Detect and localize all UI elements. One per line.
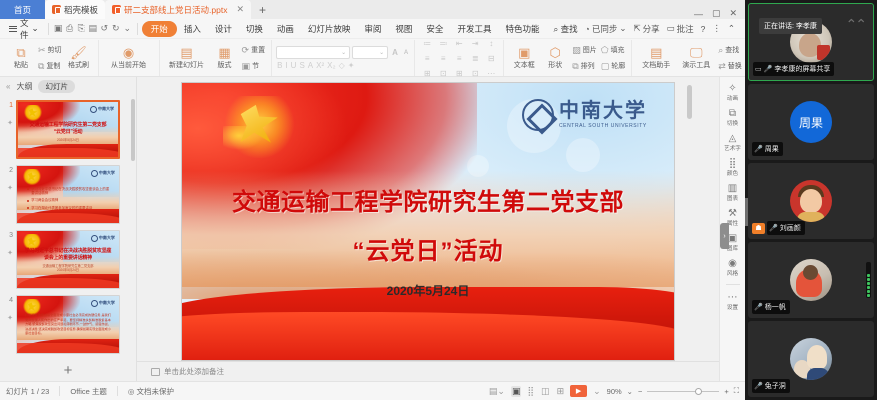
highlight-button[interactable]: ✦: [348, 61, 355, 70]
outline-icon: ▢: [601, 61, 610, 72]
new-slide-button[interactable]: ▤ 新建幻灯片: [164, 41, 210, 76]
fill-icon: ⬠: [601, 45, 609, 56]
participant-tile-5[interactable]: 🎤 兔子洞: [748, 321, 874, 397]
participant-name-bar-5: 🎤 兔子洞: [752, 379, 790, 393]
format-painter-icon: 🖌: [70, 46, 87, 59]
font-color-button[interactable]: A: [308, 61, 313, 70]
tab-home[interactable]: 首页: [0, 0, 45, 19]
tab-document[interactable]: 研二支部线上党日活动.pptx ✕: [105, 0, 251, 19]
doc-assistant-button[interactable]: ▤ 文档助手: [636, 41, 676, 76]
participant-tile-4[interactable]: 🎤 杨一帆: [748, 242, 874, 318]
comment-label: 批注: [677, 23, 694, 35]
subscript-button[interactable]: X₂: [327, 61, 335, 70]
find-label: 查找: [725, 45, 739, 55]
view-normal-button[interactable]: ▣: [511, 386, 522, 397]
comment-icon: ▭: [667, 23, 675, 34]
align-left-button[interactable]: ≡: [425, 54, 430, 63]
menu-item-animation[interactable]: 动画: [270, 21, 301, 37]
mini-bullet-item: 学习两会会议精神: [27, 198, 111, 202]
print-icon[interactable]: ⎘: [75, 21, 87, 36]
window-controls: — ▢ ✕: [686, 8, 745, 19]
theme-label[interactable]: Office 主题: [70, 386, 107, 397]
animation-star-icon: ✦: [7, 119, 13, 127]
participant-name-bar-3: ☗ 🎤 刘画颜: [752, 221, 805, 235]
menu-item-design[interactable]: 设计: [208, 21, 239, 37]
slideshow-options-caret[interactable]: ⌄: [592, 386, 602, 397]
current-slide[interactable]: 中南大学 CENTRAL SOUTH UNIVERSITY 交通运输工程学院研究…: [182, 83, 674, 360]
view-options-button[interactable]: ▤⌄: [488, 386, 506, 397]
menu-item-security[interactable]: 安全: [419, 21, 450, 37]
level-bar: [867, 278, 870, 281]
canvas-area[interactable]: 中南大学 CENTRAL SOUTH UNIVERSITY 交通运输工程学院研究…: [137, 77, 719, 361]
rail-item-color[interactable]: ⣿ 颜色: [720, 156, 746, 179]
level-bar: [867, 274, 870, 277]
fill-button[interactable]: ⬠ 填充: [599, 43, 628, 58]
participant-name-3: 🎤 刘画颜: [767, 221, 805, 235]
mini-subtitle: “云党日”活动: [24, 129, 112, 136]
rail-item-animation[interactable]: ✧ 动画: [720, 81, 746, 104]
logo-cn-text: 中南大学: [559, 101, 647, 121]
rail-label: 风格: [727, 269, 738, 277]
menu-divider-2: [137, 23, 138, 35]
collapse-panel-icon[interactable]: «: [6, 82, 10, 91]
help-button[interactable]: ?: [701, 24, 706, 34]
new-tab-button[interactable]: +: [251, 0, 274, 19]
party-emblem-icon: [221, 96, 295, 158]
align-right-button[interactable]: ≡: [457, 54, 462, 63]
participant-name-4: 🎤 杨一帆: [752, 300, 790, 314]
section-button[interactable]: ▣ 节: [240, 59, 268, 74]
slide-number-1-group: 1 ✦: [3, 100, 13, 127]
avatar-face: [800, 189, 822, 213]
copy-button[interactable]: ⧉ 复制: [36, 59, 64, 74]
microphone-icon: 🎤: [764, 65, 773, 73]
rail-item-chart[interactable]: ▥ 图表: [720, 181, 746, 204]
menu-item-slideshow[interactable]: 幻灯片放映: [301, 21, 358, 37]
play-from-current-button[interactable]: ◉ 从当前开始: [103, 41, 155, 76]
rail-item-settings[interactable]: ⋯ 设置: [720, 290, 746, 313]
close-window-button[interactable]: ✕: [729, 8, 737, 19]
logo-text-group: 中南大学 CENTRAL SOUTH UNIVERSITY: [559, 101, 647, 129]
notes-placeholder: 单击此处添加备注: [164, 366, 224, 377]
logo-text: 中南大学: [99, 300, 115, 306]
layout-button[interactable]: ▦ 版式: [210, 41, 240, 76]
status-divider: [59, 386, 60, 396]
tab-close-icon[interactable]: ✕: [236, 4, 244, 15]
slide-subtitle[interactable]: “云党日”活动: [202, 231, 655, 266]
notes-pane[interactable]: 单击此处添加备注: [137, 361, 719, 381]
present-tools-icon: 🖵: [690, 46, 703, 59]
notes-icon: [151, 368, 160, 376]
slide-title[interactable]: 交通运输工程学院研究生第二党支部: [202, 188, 655, 218]
output-pdf-icon[interactable]: ▤: [87, 21, 99, 36]
logo-en-text: CENTRAL SOUTH UNIVERSITY: [559, 123, 647, 129]
new-slide-label: 新建幻灯片: [169, 60, 204, 70]
mini-date: 2020年5月24日: [23, 267, 113, 272]
shape-icon: ⬡: [550, 46, 561, 59]
avatar: [790, 338, 832, 380]
decrease-indent-button[interactable]: ⇤: [456, 39, 463, 48]
avatar-person-2: [807, 345, 827, 369]
minimize-button[interactable]: —: [694, 9, 703, 19]
sync-status[interactable]: ◔ 已同步 ⌄: [585, 23, 627, 35]
ribbon-toolbar: ⧉ 粘贴 ✂ 剪切 ⧉ 复制 🖌 格式刷: [0, 39, 745, 77]
zoom-slider-handle[interactable]: [695, 388, 702, 395]
find-button[interactable]: ⌕ 查找: [716, 43, 744, 58]
numbering-button[interactable]: ≕: [439, 39, 447, 48]
rail-item-transition[interactable]: ⧉ 切换: [720, 106, 746, 129]
status-bar: 幻灯片 1 / 23 Office 主题 ◎ 文档未保护 ▤⌄ ▣ ⣿ ◫ ⊞ …: [0, 381, 745, 400]
rail-label: 艺术字: [724, 144, 741, 152]
microphone-muted-icon: 🎤: [754, 145, 763, 153]
paste-label: 粘贴: [14, 60, 28, 70]
insert-small-buttons-2: ⬠ 填充 ▢ 轮廓: [599, 41, 628, 76]
play-circle-icon: ◉: [123, 46, 134, 59]
mini-date: 2020年5月24日: [24, 137, 112, 142]
tab-document-label: 研二支部线上党日活动.pptx: [124, 4, 227, 16]
menu-item-review[interactable]: 审阅: [357, 21, 388, 37]
slide-number-4-group: 4 ✦: [3, 295, 13, 322]
university-logo: 中南大学: [91, 170, 115, 177]
mini-paragraph: 打赢脱贫攻坚战是全面建成小康社会必须完成的硬任务,是我们党向全国人民作出的庄严承…: [25, 313, 111, 335]
avatar: 周果: [790, 101, 832, 143]
ribbon-group-font: ⌄ ⌄ A A B I U S A X² X₂ ◇ ✦: [272, 40, 415, 76]
font-row-top: ⌄ ⌄ A A: [276, 46, 410, 59]
slide-panel-header: « 大纲 幻灯片: [0, 77, 136, 95]
application-window: 首页 稻壳模板 研二支部线上党日活动.pptx ✕ + — ▢ ✕ 文件: [0, 0, 877, 400]
present-tools-button[interactable]: 🖵 演示工具: [676, 41, 716, 76]
logo-ring-icon: [91, 170, 98, 177]
font-row-bottom: B I U S A X² X₂ ◇ ✦: [276, 61, 410, 70]
party-emblem-icon: [23, 169, 41, 185]
status-bar-right: ▤⌄ ▣ ⣿ ◫ ⊞ ▶ ⌄ 90% ⌄ − + ⛶: [488, 385, 739, 397]
participant-tile-2[interactable]: 周果 🎤 周果: [748, 84, 874, 160]
italic-button[interactable]: I: [285, 61, 287, 70]
present-tools-label: 演示工具: [682, 60, 710, 70]
decor-bubble: [566, 138, 600, 172]
chevron-up-icon[interactable]: ⌃⌃: [846, 16, 865, 33]
microphone-muted-icon: 🎤: [754, 382, 763, 390]
logo-ring-icon: [91, 300, 98, 307]
participant-label: 杨一帆: [765, 302, 786, 312]
copy-icon: ⧉: [38, 61, 44, 72]
outline-label: 轮廓: [611, 61, 625, 71]
share-button[interactable]: ⇱ 分享: [633, 23, 659, 35]
replace-button[interactable]: ⇄ 替换: [716, 59, 744, 74]
reset-label: 重置: [251, 45, 265, 55]
font-size-input[interactable]: ⌄: [352, 46, 388, 59]
menu-item-developer-tools[interactable]: 开发工具: [450, 21, 498, 37]
mini-bullet-item: 学习在湖北代表团参加审议时的重要讲话: [27, 206, 111, 210]
replace-icon: ⇄: [718, 61, 726, 72]
animation-star-icon: ✦: [7, 249, 13, 257]
copy-label: 复制: [46, 61, 60, 71]
mini-slide-3: 中南大学 学习习近平总书记在决战决胜脱贫攻坚座谈会上的重要讲话精神 交通运输工程…: [17, 231, 119, 288]
rail-item-wordart[interactable]: ◬ 艺术字: [720, 131, 746, 154]
menu-item-insert[interactable]: 插入: [177, 21, 208, 37]
reset-button[interactable]: ⟳ 重置: [240, 43, 268, 58]
textbox-icon: ▣: [518, 46, 530, 59]
logo-text: 中南大学: [98, 106, 114, 112]
zoom-caret-icon[interactable]: ⌄: [627, 387, 633, 396]
logo-ring-icon: [90, 106, 97, 113]
start-slideshow-button[interactable]: ▶: [570, 385, 587, 397]
chevron-down-icon: ⌄: [619, 23, 626, 34]
shape-label: 形状: [548, 60, 562, 70]
justify-button[interactable]: ≣: [472, 54, 479, 63]
doc-assistant-icon: ▤: [650, 46, 662, 59]
view-reading-button[interactable]: ⊞: [556, 386, 566, 397]
workspace: « 大纲 幻灯片 1 ✦: [0, 77, 745, 381]
slide-date[interactable]: 2020年5月24日: [202, 282, 655, 299]
level-bar: [867, 286, 870, 289]
slide-number: 1: [9, 102, 13, 109]
redo-icon[interactable]: ↻: [110, 21, 122, 36]
mini-red-wave-2: [16, 213, 120, 223]
zoom-level-label[interactable]: 90%: [607, 387, 622, 396]
participant-tile-1[interactable]: 正在讲话: 李孝康 ⌃⌃ ▭ 🎤 李孝康的屏幕共享: [748, 3, 874, 81]
mini-red-wave-2: [16, 343, 120, 353]
decrease-font-size-button[interactable]: A: [402, 50, 410, 56]
section-icon: ▣: [242, 61, 251, 72]
slide-editor: 中南大学 CENTRAL SOUTH UNIVERSITY 交通运输工程学院研究…: [137, 77, 719, 381]
file-menu-label: 文件: [20, 17, 29, 41]
line-spacing-button[interactable]: ↕: [489, 39, 493, 48]
slide-thumb-canvas-2: 中南大学 学习习近平总书记在决战决胜脱贫攻坚座谈会上的重要讲话精神 学习两会会议…: [16, 165, 120, 224]
layout-icon: ▦: [218, 46, 230, 59]
rail-label: 切换: [727, 119, 738, 127]
chevron-down-icon: ⌄: [32, 23, 39, 34]
cut-label: 剪切: [48, 45, 62, 55]
rail-expand-handle[interactable]: ›: [720, 223, 729, 249]
menu-item-special-features[interactable]: 特色功能: [498, 21, 546, 37]
menu-bar: 文件 ⌄ ▣ ⎙ ⎘ ▤ ↺ ↻ ⌄ 开始 插入 设计 切换 动画 幻灯片放映 …: [0, 19, 745, 39]
picture-icon: ▨: [572, 45, 581, 56]
textbox-label: 文本框: [514, 60, 535, 70]
zoom-out-button[interactable]: −: [638, 387, 642, 396]
print-preview-icon[interactable]: ⎙: [64, 21, 76, 36]
tab-home-label: 首页: [14, 4, 31, 16]
university-logo: 中南大学: [91, 300, 115, 307]
level-bar: [867, 290, 870, 293]
comment-button[interactable]: ▭ 批注: [667, 23, 694, 35]
avatar: [790, 180, 832, 222]
participant-name-bar-4: 🎤 杨一帆: [752, 300, 790, 314]
rail-label: 设置: [727, 303, 738, 311]
slide-thumbnail-4[interactable]: 4 ✦ 中南大学: [0, 292, 136, 357]
menu-search-label: 查找: [561, 24, 578, 34]
doc-assistant-label: 文档助手: [642, 60, 670, 70]
section-label: 节: [252, 61, 259, 71]
menu-item-start[interactable]: 开始: [142, 21, 177, 37]
level-bar: [867, 294, 870, 297]
university-logo: 中南大学 CENTRAL SOUTH UNIVERSITY: [522, 99, 647, 131]
mini-title: 学习习近平总书记在决战决胜脱贫攻坚座谈会上的重要讲话精神: [23, 248, 113, 262]
ribbon-group-paragraph: ≔ ≕ ⇤ ⇥ ↕ ≡ ≡ ≡ ≣ ⊟ ⊞ ⊡ ⊞ ⊡ ⋯: [415, 40, 504, 76]
level-bar: [867, 282, 870, 285]
animation-icon: ✧: [728, 83, 736, 94]
slide-number: 4: [9, 297, 13, 304]
strikethrough-button[interactable]: S: [299, 61, 304, 70]
paste-button[interactable]: ⧉ 粘贴: [6, 41, 36, 76]
participant-name-2: 🎤 周果: [752, 142, 783, 156]
superscript-button[interactable]: X²: [316, 61, 324, 70]
rail-label: 颜色: [727, 169, 738, 177]
slide-thumbnail-2[interactable]: 2 ✦ 中南大学: [0, 162, 136, 227]
share-icon: ⇱: [633, 23, 640, 34]
canvas-scrollbar[interactable]: [687, 85, 692, 119]
slide-list[interactable]: 1 ✦ 中南大学: [0, 95, 136, 381]
avatar-clothing: [807, 368, 829, 380]
ribbon-group-play: ◉ 从当前开始: [99, 40, 160, 76]
screen-share-icon: ▭: [755, 65, 762, 73]
sync-label: 已同步: [592, 23, 618, 35]
participant-tile-3[interactable]: ☗ 🎤 刘画颜: [748, 163, 874, 239]
clear-formatting-button[interactable]: ◇: [339, 61, 345, 70]
slide-thumb-canvas-4: 中南大学 打赢脱贫攻坚战是全面建成小康社会必须完成的硬任务,是我们党向全国人民作…: [16, 295, 120, 354]
reset-icon: ⟳: [242, 45, 250, 56]
menu-search-button[interactable]: ⌕ 查找: [546, 21, 584, 37]
style-icon: ◉: [728, 258, 737, 269]
underline-button[interactable]: U: [291, 61, 297, 70]
properties-icon: ⚒: [728, 208, 737, 219]
outline-button[interactable]: ▢ 轮廓: [599, 59, 628, 74]
protection-label: 文档未保护: [137, 387, 175, 396]
textbox-button[interactable]: ▣ 文本框: [508, 41, 540, 76]
pptx-file-icon: [112, 5, 121, 14]
bullets-button[interactable]: ≔: [423, 39, 431, 48]
paste-icon: ⧉: [16, 46, 25, 59]
participant-label: 李孝康的屏幕共享: [774, 64, 830, 74]
logo-ring-icon: [91, 235, 98, 242]
align-center-button[interactable]: ≡: [441, 54, 446, 63]
menu-bar-right: ◔ 已同步 ⌄ ⇱ 分享 ▭ 批注 ? ⋮ ⌃: [585, 23, 741, 35]
collapse-ribbon-icon[interactable]: ⌃: [728, 23, 735, 34]
transition-icon: ⧉: [729, 108, 736, 119]
rail-label: 图表: [727, 194, 738, 202]
arrange-icon: ⧉: [572, 61, 578, 72]
slide-counter: 幻灯片 1 / 23: [6, 386, 49, 397]
logo-text: 中南大学: [99, 170, 115, 176]
host-badge-icon: ☗: [752, 223, 765, 234]
add-slide-button[interactable]: +: [0, 357, 136, 381]
fit-to-window-button[interactable]: ⛶: [734, 386, 739, 396]
mini-bullet-item: 学习习近平总书记在决战决胜脱贫攻坚座谈会上的重要讲话精神: [27, 187, 111, 196]
share-label: 分享: [643, 23, 660, 35]
template-icon: [52, 5, 61, 14]
undo-icon[interactable]: ↺: [98, 21, 110, 36]
cut-button[interactable]: ✂ 剪切: [36, 43, 64, 58]
increase-font-size-button[interactable]: A: [390, 48, 400, 57]
menu-item-transition[interactable]: 切换: [239, 21, 270, 37]
shape-button[interactable]: ⬡ 形状: [540, 41, 570, 76]
arrange-label: 排列: [581, 61, 595, 71]
view-slide-sorter-button[interactable]: ⣿: [526, 386, 535, 397]
font-name-input[interactable]: ⌄: [276, 46, 350, 59]
ribbon-group-slides: ▤ 新建幻灯片 ▦ 版式 ⟳ 重置 ▣ 节: [160, 40, 273, 76]
zoom-slider[interactable]: [647, 391, 719, 392]
slide-thumbnail-1[interactable]: 1 ✦ 中南大学: [0, 97, 136, 162]
tab-slides[interactable]: 幻灯片: [38, 80, 75, 93]
slide-thumb-canvas-3: 中南大学 学习习近平总书记在决战决胜脱贫攻坚座谈会上的重要讲话精神 交通运输工程…: [16, 230, 120, 289]
picture-button[interactable]: ▨ 图片: [570, 43, 599, 58]
gallery-icon: ▣: [728, 233, 737, 244]
menu-divider: [48, 23, 49, 35]
ribbon-group-insert: ▣ 文本框 ⬡ 形状 ▨ 图片 ⧉ 排列: [504, 40, 632, 76]
university-logo: 中南大学: [90, 106, 114, 113]
slides-small-buttons: ⟳ 重置 ▣ 节: [240, 41, 268, 76]
file-menu-button[interactable]: 文件 ⌄: [4, 17, 44, 41]
animation-star-icon: ✦: [7, 314, 13, 322]
participant-name-bar-2: 🎤 周果: [752, 142, 783, 156]
participant-name-5: 🎤 兔子洞: [752, 379, 790, 393]
color-icon: ⣿: [729, 158, 736, 169]
replace-label: 替换: [728, 61, 742, 71]
tab-template[interactable]: 稻壳模板: [45, 0, 105, 19]
maximize-button[interactable]: ▢: [712, 8, 721, 19]
save-icon[interactable]: ▣: [52, 21, 64, 36]
participant-label: 刘画颜: [780, 223, 801, 233]
customize-toolbar-icon[interactable]: ⌄: [122, 21, 134, 36]
mini-red-wave-2: [16, 278, 120, 288]
menu-item-view[interactable]: 视图: [388, 21, 419, 37]
mini-slide-4: 中南大学 打赢脱贫攻坚战是全面建成小康社会必须完成的硬任务,是我们党向全国人民作…: [17, 296, 119, 353]
paragraph-buttons: ≔ ≕ ⇤ ⇥ ↕ ≡ ≡ ≡ ≣ ⊟ ⊞ ⊡ ⊞ ⊡ ⋯: [419, 36, 499, 81]
bold-button[interactable]: B: [277, 61, 282, 70]
microphone-muted-icon: 🎤: [754, 303, 763, 311]
slide-thumbnail-panel: « 大纲 幻灯片 1 ✦: [0, 77, 137, 381]
clipboard-small-buttons: ✂ 剪切 ⧉ 复制: [36, 41, 64, 76]
protection-status[interactable]: ◎ 文档未保护: [128, 386, 174, 397]
increase-indent-button[interactable]: ⇥: [472, 39, 479, 48]
zoom-meeting-panel: 正在讲话: 李孝康 ⌃⌃ ▭ 🎤 李孝康的屏幕共享 周果 🎤 周果: [745, 0, 877, 400]
arrange-button[interactable]: ⧉ 排列: [570, 59, 599, 74]
rail-label: 动画: [727, 94, 738, 102]
rail-divider: [726, 284, 740, 285]
tab-outline[interactable]: 大纲: [16, 81, 32, 92]
participant-label: 兔子洞: [765, 381, 786, 391]
participant-label: 周果: [765, 144, 779, 154]
fill-label: 填充: [611, 45, 625, 55]
view-notes-button[interactable]: ◫: [540, 386, 551, 397]
play-from-current-label: 从当前开始: [111, 60, 146, 70]
more-options-icon[interactable]: ⋮: [712, 23, 721, 34]
avatar: [790, 259, 832, 301]
mini-slide-2: 中南大学 学习习近平总书记在决战决胜脱贫攻坚座谈会上的重要讲话精神 学习两会会议…: [17, 166, 119, 223]
ribbon-group-tools: ▤ 文档助手 🖵 演示工具 ⌕ 查找 ⇄ 替换: [632, 40, 748, 76]
zoom-in-button[interactable]: +: [724, 387, 728, 396]
rail-item-style[interactable]: ◉ 风格: [720, 256, 746, 279]
hamburger-icon: [9, 26, 17, 32]
shield-icon: ◎: [128, 387, 135, 396]
slide-thumbnail-3[interactable]: 3 ✦ 中南大学: [0, 227, 136, 292]
distribute-button[interactable]: ⊟: [488, 54, 495, 63]
format-painter-button[interactable]: 🖌 格式刷: [64, 41, 94, 76]
tab-template-label: 稻壳模板: [64, 4, 98, 16]
picture-label: 图片: [583, 45, 597, 55]
slide-number: 3: [9, 232, 13, 239]
slide-panel-scrollbar[interactable]: [131, 99, 135, 161]
animation-star-icon: ✦: [7, 184, 13, 192]
settings-icon: ⋯: [728, 292, 738, 303]
tab-bar: 首页 稻壳模板 研二支部线上党日活动.pptx ✕ + — ▢ ✕: [0, 0, 745, 19]
microphone-muted-icon: 🎤: [769, 224, 778, 232]
search-icon: ⌕: [718, 45, 723, 56]
wps-presentation-window: 首页 稻壳模板 研二支部线上党日活动.pptx ✕ + — ▢ ✕ 文件: [0, 0, 745, 400]
new-slide-icon: ▤: [180, 46, 192, 59]
university-logo: 中南大学: [91, 235, 115, 242]
logo-ring-icon: [522, 99, 554, 131]
